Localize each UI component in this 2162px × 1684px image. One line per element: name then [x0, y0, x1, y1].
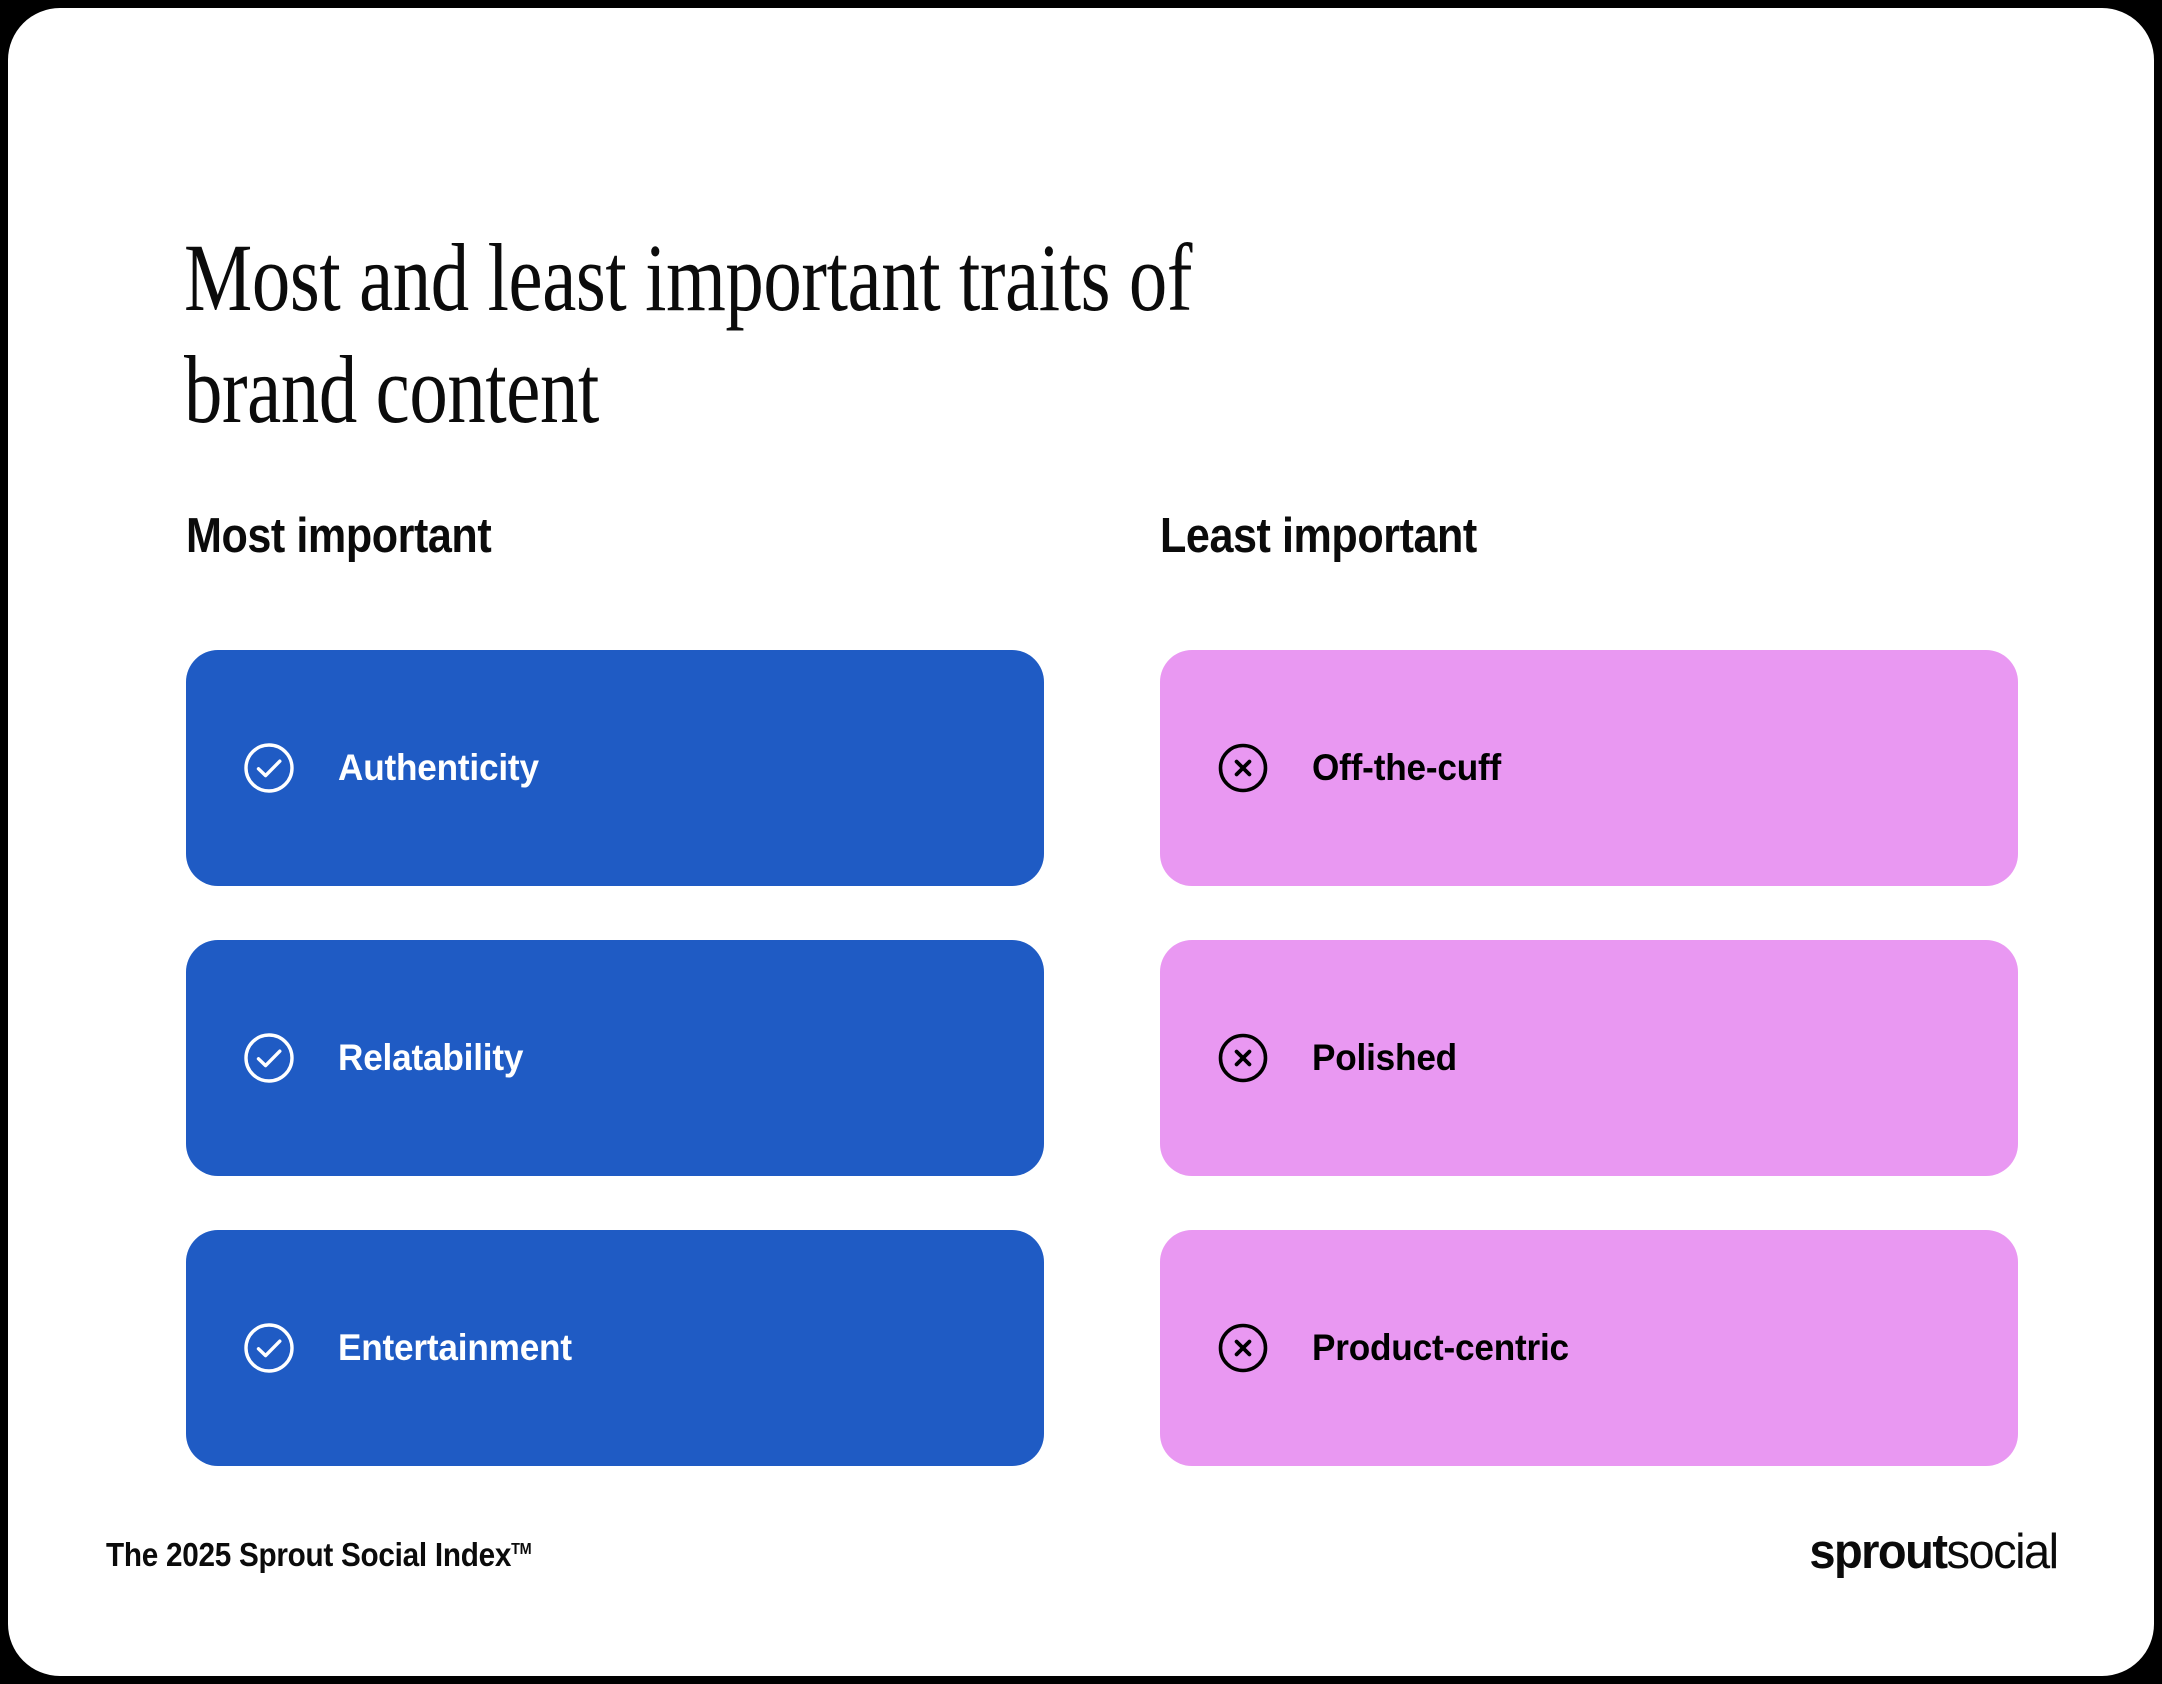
- column-header-least-important: Least important: [1160, 508, 1477, 564]
- logo-word-sprout: sprout: [1810, 1525, 1947, 1579]
- check-circle-icon: [242, 741, 296, 795]
- footer-source-text: The 2025 Sprout Social Index: [106, 1536, 511, 1573]
- sprout-social-logo: sproutsocial: [1810, 1524, 2058, 1580]
- column-header-most-important: Most important: [186, 508, 491, 564]
- trait-label: Entertainment: [338, 1327, 572, 1369]
- trait-label: Off-the-cuff: [1312, 747, 1501, 789]
- x-circle-icon: [1216, 741, 1270, 795]
- trait-card-least-3[interactable]: Product-centric: [1160, 1230, 2018, 1466]
- x-circle-icon: [1216, 1321, 1270, 1375]
- column-most-important: Authenticity Relatability Entertainment: [186, 650, 1044, 1466]
- trait-label: Authenticity: [338, 747, 539, 789]
- infographic-canvas: Most and least important traits of brand…: [8, 8, 2154, 1676]
- trait-card-least-2[interactable]: Polished: [1160, 940, 2018, 1176]
- page-title-line-2: brand content: [184, 334, 1384, 445]
- check-circle-icon: [242, 1321, 296, 1375]
- trademark-symbol: TM: [511, 1541, 531, 1558]
- logo-word-social: social: [1947, 1525, 2058, 1579]
- trait-card-most-3[interactable]: Entertainment: [186, 1230, 1044, 1466]
- trait-card-most-2[interactable]: Relatability: [186, 940, 1044, 1176]
- footer-source-label: The 2025 Sprout Social IndexTM: [106, 1536, 531, 1574]
- trait-card-least-1[interactable]: Off-the-cuff: [1160, 650, 2018, 886]
- trait-card-most-1[interactable]: Authenticity: [186, 650, 1044, 886]
- trait-label: Relatability: [338, 1037, 523, 1079]
- x-circle-icon: [1216, 1031, 1270, 1085]
- trait-label: Polished: [1312, 1037, 1457, 1079]
- page-title-line-1: Most and least important traits of: [184, 222, 1384, 333]
- page-title: Most and least important traits of brand…: [184, 222, 1384, 445]
- check-circle-icon: [242, 1031, 296, 1085]
- trait-label: Product-centric: [1312, 1327, 1569, 1369]
- column-least-important: Off-the-cuff Polished Product-centric: [1160, 650, 2018, 1466]
